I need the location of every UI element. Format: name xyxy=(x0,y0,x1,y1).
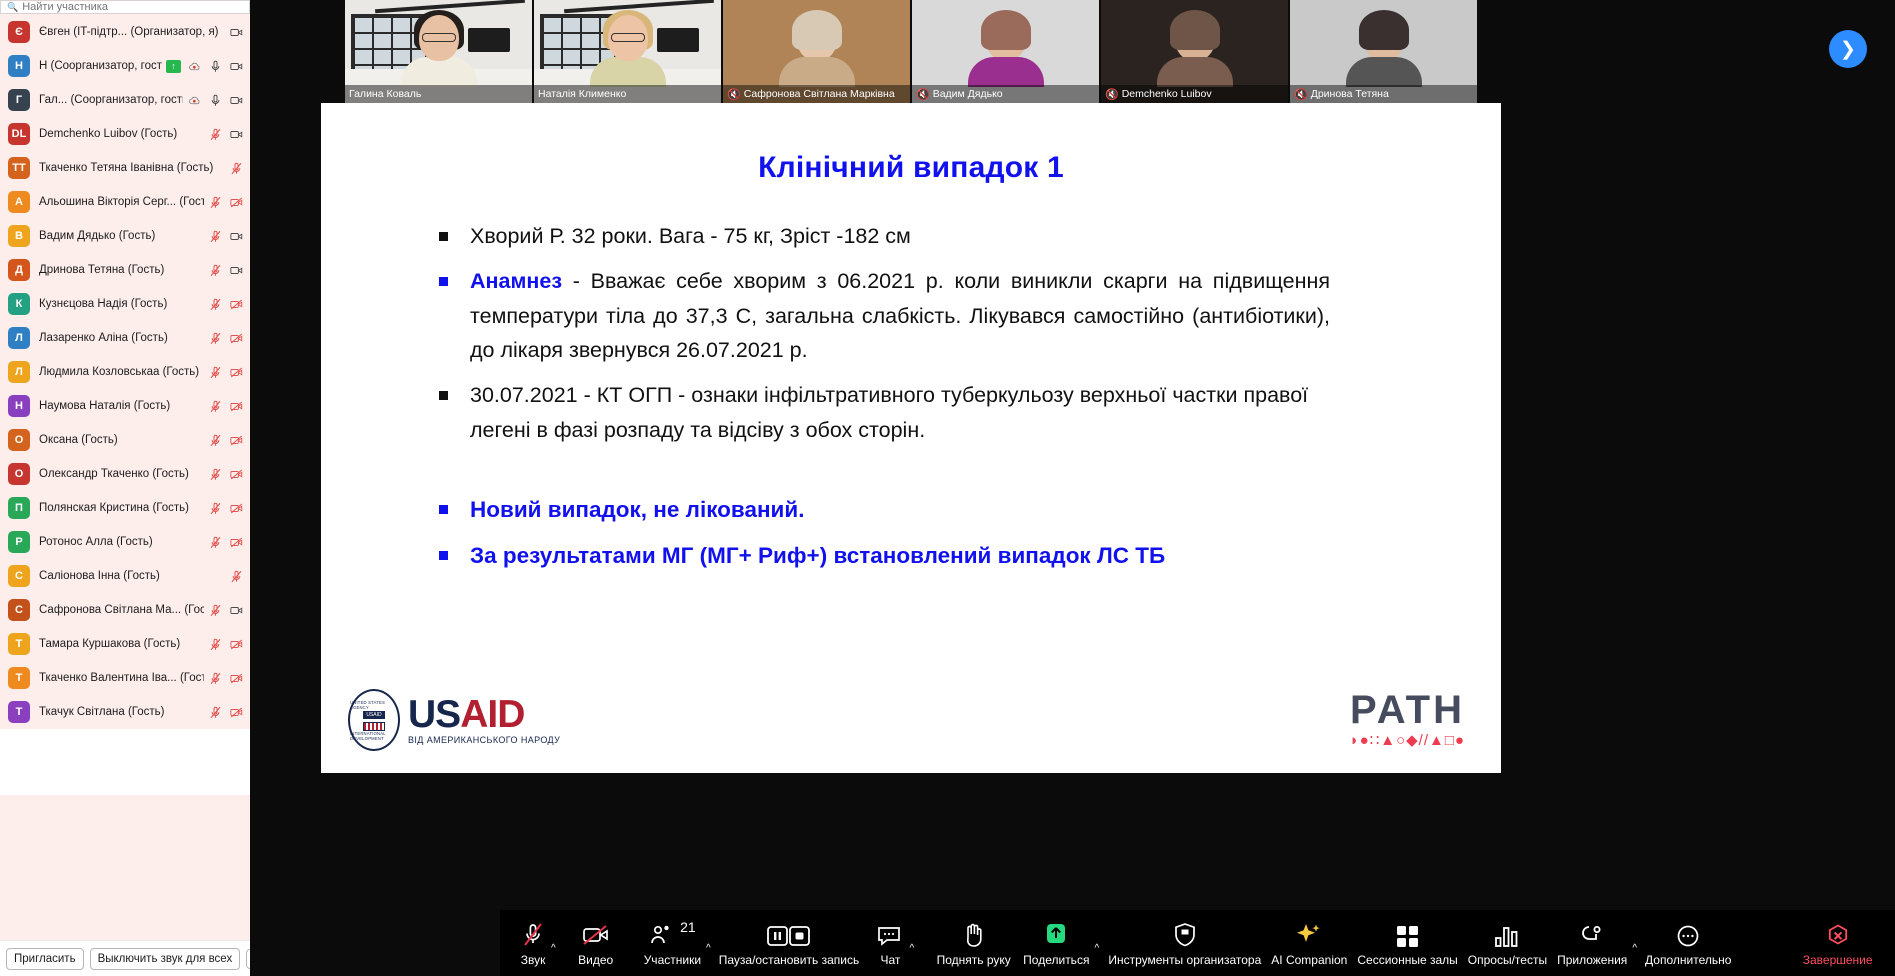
end-meeting-icon xyxy=(1824,919,1852,949)
toolbar-button-label: Звук xyxy=(521,953,546,967)
avatar: Г xyxy=(8,89,30,111)
participants-list-empty-space xyxy=(0,729,250,795)
pause-stop-record-icon xyxy=(766,919,812,949)
slide-bullet: Хворий Р. 32 роки. Вага - 75 кг, Зріст -… xyxy=(439,219,1477,254)
usaid-seal-box: USAID xyxy=(363,711,384,719)
slide-bullet-text: Новий випадок, не лікований. xyxy=(470,492,804,528)
avatar: К xyxy=(8,293,30,315)
microphone-muted-icon: 🔇 xyxy=(1105,88,1119,101)
microphone-muted-icon[interactable] xyxy=(208,535,223,550)
camera-off-icon[interactable] xyxy=(229,263,244,278)
search-icon: 🔍 xyxy=(7,2,18,13)
toolbar-button-pause-stop-record[interactable]: Пауза/остановить запись xyxy=(717,910,861,976)
video-thumbnail[interactable]: 🔇Сафронова Світлана Марківна xyxy=(723,0,910,103)
participant-row[interactable]: ТТкаченко Валентина Іва... (Гость) xyxy=(0,661,250,695)
chat-icon xyxy=(876,919,904,949)
microphone-muted-icon[interactable] xyxy=(208,365,223,380)
chevron-up-icon[interactable]: ^ xyxy=(706,943,711,954)
participant-row[interactable]: НН (Соорганизатор, гость)↑ xyxy=(0,49,250,83)
slide-spacer xyxy=(439,458,1477,492)
thumbnail-label: Галина Коваль xyxy=(345,85,532,103)
toolbar-button-label: Пауза/остановить запись xyxy=(719,953,859,967)
thumbnail-label: 🔇Дринова Тетяна xyxy=(1290,85,1477,103)
raise-hand-icon xyxy=(961,919,987,949)
avatar: Є xyxy=(8,21,30,43)
participant-name: Євген (IT-підтр... (Организатор, я) xyxy=(39,26,225,38)
toolbar-button-label: Видео xyxy=(578,953,613,967)
participant-name: Галина Коваль xyxy=(349,88,421,100)
participant-row[interactable]: ООксана (Гость) xyxy=(0,423,250,457)
usaid-seal-bottom: INTERNATIONAL DEVELOPMENT xyxy=(350,731,398,741)
avatar: Н xyxy=(8,395,30,417)
microphone-muted-icon[interactable] xyxy=(208,671,223,686)
participants-icon: 21 xyxy=(649,919,696,949)
microphone-muted-icon[interactable] xyxy=(208,705,223,720)
path-glyph-row: ◗●∷▲○◆//▲□● xyxy=(1350,731,1465,749)
toolbar-button-label: Поделиться xyxy=(1023,953,1089,967)
microphone-muted-icon[interactable] xyxy=(208,467,223,482)
participant-row[interactable]: ЛЛазаренко Аліна (Гость) xyxy=(0,321,250,355)
video-thumbnail-strip: Галина Коваль Наталія Клименко 🔇Сафронов… xyxy=(345,0,1477,103)
shared-slide: Клінічний випадок 1 Хворий Р. 32 роки. В… xyxy=(321,103,1501,773)
toolbar-button-chat[interactable]: Чат xyxy=(874,910,906,976)
participant-name: Ротонос Алла (Гость) xyxy=(39,536,204,548)
slide-bullet-rest: - Вважає себе хворим з 06.2021 р. коли в… xyxy=(470,269,1330,363)
participant-status-icons xyxy=(208,671,244,686)
participant-status-icons xyxy=(229,25,244,40)
participant-status-icons xyxy=(229,161,244,176)
invite-button[interactable]: Пригласить xyxy=(6,948,84,970)
usaid-tagline: ВІД АМЕРИКАНСЬКОГО НАРОДУ xyxy=(408,735,560,745)
toolbar-button-apps[interactable]: Приложения xyxy=(1555,910,1629,976)
meeting-toolbar: Звук^Видео21Участники^Пауза/остановить з… xyxy=(500,910,1895,976)
screen-share-badge-icon: ↑ xyxy=(166,60,181,73)
camera-off-icon xyxy=(581,919,611,949)
participant-row[interactable]: ДДринова Тетяна (Гость) xyxy=(0,253,250,287)
toolbar-button-host-tools-shield[interactable]: Инструменты организатора xyxy=(1106,910,1263,976)
bullet-marker-icon xyxy=(439,391,448,400)
ai-sparkle-icon xyxy=(1294,919,1324,949)
avatar: С xyxy=(8,599,30,621)
toolbar-button-label: Чат xyxy=(880,953,900,967)
recording-cloud-icon xyxy=(187,59,202,74)
host-tools-shield-icon xyxy=(1172,919,1198,949)
participant-status-icons xyxy=(208,467,244,482)
bullet-marker-icon xyxy=(439,232,448,241)
usaid-logo: UNITED STATES AGENCY USAID INTERNATIONAL… xyxy=(348,689,560,751)
slide-bullet: Новий випадок, не лікований. xyxy=(439,492,1477,528)
video-thumbnail[interactable]: 🔇Вадим Дядько xyxy=(912,0,1099,103)
participant-status-icons xyxy=(208,127,244,142)
microphone-muted-icon: 🔇 xyxy=(727,88,741,101)
video-thumbnail[interactable]: 🔇Demchenko Luibov xyxy=(1101,0,1288,103)
toolbar-button-label: Приложения xyxy=(1557,953,1627,967)
participant-row[interactable]: ССафронова Світлана Ма... (Гость) xyxy=(0,593,250,627)
camera-off-icon[interactable] xyxy=(229,93,244,108)
chevron-up-icon[interactable]: ^ xyxy=(551,943,556,954)
camera-off-icon[interactable] xyxy=(229,705,244,720)
participant-status-icons xyxy=(208,603,244,618)
toolbar-button-microphone-muted[interactable]: Звук xyxy=(518,910,548,976)
participant-row[interactable]: ЛЛюдмила Козловськаа (Гость) xyxy=(0,355,250,389)
path-wordmark: PATH xyxy=(1350,691,1465,729)
participant-name: Наумова Наталія (Гость) xyxy=(39,400,204,412)
participant-row[interactable]: ППолянская Кристина (Гость) xyxy=(0,491,250,525)
camera-off-icon[interactable] xyxy=(229,25,244,40)
microphone-muted-icon xyxy=(520,919,546,949)
toolbar-button-breakout-rooms[interactable]: Сессионные залы xyxy=(1355,910,1459,976)
participant-status-icons xyxy=(208,331,244,346)
toolbar-button-raise-hand[interactable]: Поднять руку xyxy=(935,910,1013,976)
bullet-marker-icon xyxy=(439,551,448,560)
slide-bullet-text: За результатами МГ (МГ+ Риф+) встановлен… xyxy=(470,538,1165,574)
avatar: DL xyxy=(8,123,30,145)
participants-footer: Пригласить Выключить звук для всех ··· xyxy=(0,940,250,976)
participant-row[interactable]: ССаліонова Інна (Гость) xyxy=(0,559,250,593)
toolbar-button-participants[interactable]: 21Участники xyxy=(642,910,703,976)
slide-title: Клінічний випадок 1 xyxy=(321,151,1501,185)
participant-name: Кузнєцова Надія (Гость) xyxy=(39,298,204,310)
usaid-seal-icon: UNITED STATES AGENCY USAID INTERNATIONAL… xyxy=(348,689,400,751)
apps-icon xyxy=(1577,919,1607,949)
avatar: ТТ xyxy=(8,157,30,179)
breakout-rooms-icon xyxy=(1394,919,1422,949)
avatar: Т xyxy=(8,667,30,689)
participant-row[interactable]: РРотонос Алла (Гость) xyxy=(0,525,250,559)
usaid-seal-stripes xyxy=(363,722,385,731)
slide-bullet: 30.07.2021 - КТ ОГП - ознаки інфільтрати… xyxy=(439,378,1477,448)
microphone-muted-icon[interactable] xyxy=(208,331,223,346)
camera-off-icon[interactable] xyxy=(229,433,244,448)
participants-panel: 🔍 ЄЄвген (IT-підтр... (Организатор, я)НН… xyxy=(0,0,250,976)
participant-status-icons xyxy=(208,501,244,516)
toolbar-button-label: Поднять руку xyxy=(937,953,1011,967)
participant-status-icons xyxy=(208,195,244,210)
microphone-muted-icon[interactable] xyxy=(208,263,223,278)
microphone-icon[interactable] xyxy=(208,93,223,108)
participant-name: Наталія Клименко xyxy=(538,88,626,100)
avatar: О xyxy=(8,463,30,485)
camera-off-icon[interactable] xyxy=(229,637,244,652)
video-thumbnail[interactable]: Галина Коваль xyxy=(345,0,532,103)
participant-name: Сафронова Світлана Марківна xyxy=(744,88,895,100)
slide-bullet-text: 30.07.2021 - КТ ОГП - ознаки інфільтрати… xyxy=(470,378,1330,448)
path-logo: PATH ◗●∷▲○◆//▲□● xyxy=(1350,691,1465,749)
participant-status-icons xyxy=(187,93,244,108)
participant-name: Дринова Тетяна xyxy=(1311,88,1389,100)
avatar: Д xyxy=(8,259,30,281)
participant-status-icons xyxy=(208,535,244,550)
slide-bullet-text: Хворий Р. 32 роки. Вага - 75 кг, Зріст -… xyxy=(470,219,911,254)
camera-off-icon[interactable] xyxy=(229,365,244,380)
avatar: Н xyxy=(8,55,30,77)
microphone-muted-icon[interactable] xyxy=(208,501,223,516)
microphone-icon[interactable] xyxy=(208,59,223,74)
participant-row[interactable]: ТТамара Куршакова (Гость) xyxy=(0,627,250,661)
slide-bullet-text: Анамнез - Вважає себе хворим з 06.2021 р… xyxy=(470,264,1330,368)
participant-name: Олександр Ткаченко (Гость) xyxy=(39,468,204,480)
chevron-up-icon[interactable]: ^ xyxy=(1094,943,1099,954)
participant-row[interactable]: ННаумова Наталія (Гость) xyxy=(0,389,250,423)
participant-name: Оксана (Гость) xyxy=(39,434,204,446)
camera-off-icon[interactable] xyxy=(229,467,244,482)
avatar: П xyxy=(8,497,30,519)
participants-count-badge: 21 xyxy=(680,919,696,935)
participant-name: Альошина Вікторія Серг... (Гость) xyxy=(39,196,204,208)
microphone-muted-icon[interactable] xyxy=(208,127,223,142)
participant-status-icons xyxy=(208,263,244,278)
participant-row[interactable]: ООлександр Ткаченко (Гость) xyxy=(0,457,250,491)
toolbar-button-label: Опросы/тесты xyxy=(1468,953,1547,967)
participant-row[interactable]: ТТТкаченко Тетяна Іванівна (Гость) xyxy=(0,151,250,185)
video-thumbnail[interactable]: Наталія Клименко xyxy=(534,0,721,103)
camera-off-icon[interactable] xyxy=(229,127,244,142)
participant-name: Дринова Тетяна (Гость) xyxy=(39,264,204,276)
participant-row[interactable]: DLDemchenko Luibov (Гость) xyxy=(0,117,250,151)
slide-bullet: Анамнез - Вважає себе хворим з 06.2021 р… xyxy=(439,264,1477,368)
share-screen-icon xyxy=(1041,919,1071,949)
participant-name: Лазаренко Аліна (Гость) xyxy=(39,332,204,344)
avatar: С xyxy=(8,565,30,587)
camera-off-icon[interactable] xyxy=(229,331,244,346)
mute-all-button[interactable]: Выключить звук для всех xyxy=(90,948,241,970)
participant-name: Demchenko Luibov (Гость) xyxy=(39,128,204,140)
camera-off-icon[interactable] xyxy=(229,603,244,618)
toolbar-button-label: Завершение xyxy=(1803,953,1873,967)
camera-off-icon[interactable] xyxy=(229,195,244,210)
participant-status-icons xyxy=(208,297,244,312)
camera-off-icon[interactable] xyxy=(229,535,244,550)
microphone-muted-icon[interactable] xyxy=(208,195,223,210)
microphone-muted-icon[interactable] xyxy=(229,161,244,176)
participant-status-icons xyxy=(208,399,244,414)
recording-cloud-icon xyxy=(187,93,202,108)
participant-status-icons xyxy=(208,365,244,380)
microphone-muted-icon: 🔇 xyxy=(1294,88,1308,101)
avatar: Т xyxy=(8,701,30,723)
polls-icon xyxy=(1493,919,1521,949)
video-thumbnail[interactable]: 🔇Дринова Тетяна xyxy=(1290,0,1477,103)
participant-name: Тамара Куршакова (Гость) xyxy=(39,638,204,650)
participant-status-icons xyxy=(208,433,244,448)
participants-list[interactable]: ЄЄвген (IT-підтр... (Организатор, я)НН (… xyxy=(0,14,250,940)
thumbnail-label: Наталія Клименко xyxy=(534,85,721,103)
chevron-up-icon[interactable]: ^ xyxy=(909,943,914,954)
avatar: Т xyxy=(8,633,30,655)
participant-search-row[interactable]: 🔍 xyxy=(0,0,250,14)
participant-name: Ткаченко Валентина Іва... (Гость) xyxy=(39,672,204,684)
participant-status-icons xyxy=(208,637,244,652)
toolbar-button-label: Дополнительно xyxy=(1645,953,1731,967)
usaid-seal-top: UNITED STATES AGENCY xyxy=(350,700,398,710)
participant-status-icons: ↑ xyxy=(166,59,244,74)
toolbar-button-label: Сессионные залы xyxy=(1357,953,1457,967)
slide-body: Хворий Р. 32 роки. Вага - 75 кг, Зріст -… xyxy=(439,219,1477,575)
avatar: В xyxy=(8,225,30,247)
participant-row[interactable]: ВВадим Дядько (Гость) xyxy=(0,219,250,253)
microphone-muted-icon[interactable] xyxy=(208,637,223,652)
thumbnail-label: 🔇Вадим Дядько xyxy=(912,85,1099,103)
camera-off-icon[interactable] xyxy=(229,297,244,312)
toolbar-button-more[interactable]: Дополнительно xyxy=(1643,910,1733,976)
camera-off-icon[interactable] xyxy=(229,399,244,414)
microphone-muted-icon[interactable] xyxy=(208,433,223,448)
microphone-muted-icon[interactable] xyxy=(208,603,223,618)
avatar: О xyxy=(8,429,30,451)
usaid-us: US xyxy=(408,693,460,736)
avatar: Р xyxy=(8,531,30,553)
toolbar-button-polls[interactable]: Опросы/тесты xyxy=(1466,910,1549,976)
slide-bullet: За результатами МГ (МГ+ Риф+) встановлен… xyxy=(439,538,1477,574)
avatar: А xyxy=(8,191,30,213)
toolbar-button-label: AI Companion xyxy=(1271,953,1347,967)
chevron-right-icon[interactable]: ❯ xyxy=(1829,30,1867,68)
camera-off-icon[interactable] xyxy=(229,229,244,244)
more-icon xyxy=(1674,919,1702,949)
avatar: Л xyxy=(8,361,30,383)
chevron-up-icon[interactable]: ^ xyxy=(1632,943,1637,954)
participant-name: Людмила Козловськаа (Гость) xyxy=(39,366,204,378)
participant-name: Demchenko Luibov xyxy=(1122,88,1212,100)
participant-row[interactable]: ККузнєцова Надія (Гость) xyxy=(0,287,250,321)
toolbar-button-end-meeting[interactable]: Завершение xyxy=(1801,910,1875,976)
participant-name: Саліонова Інна (Гость) xyxy=(39,570,225,582)
participant-row[interactable]: ТТкачук Світлана (Гость) xyxy=(0,695,250,729)
toolbar-button-camera-off[interactable]: Видео xyxy=(576,910,615,976)
participant-name: Сафронова Світлана Ма... (Гость) xyxy=(39,604,204,616)
bullet-marker-icon xyxy=(439,505,448,514)
zoom-meeting-window: 🔍 ЄЄвген (IT-підтр... (Организатор, я)НН… xyxy=(0,0,1895,976)
camera-off-icon[interactable] xyxy=(229,671,244,686)
toolbar-button-ai-sparkle[interactable]: AI Companion xyxy=(1269,910,1349,976)
slide-bullet-lead: Анамнез xyxy=(470,269,562,293)
meeting-stage: Галина Коваль Наталія Клименко 🔇Сафронов… xyxy=(250,0,1895,976)
participant-status-icons xyxy=(229,569,244,584)
participant-status-icons xyxy=(208,229,244,244)
toolbar-button-label: Инструменты организатора xyxy=(1108,953,1261,967)
participant-row[interactable]: ААльошина Вікторія Серг... (Гость) xyxy=(0,185,250,219)
toolbar-button-label: Участники xyxy=(644,953,701,967)
participant-name: Полянская Кристина (Гость) xyxy=(39,502,204,514)
participant-row[interactable]: ЄЄвген (IT-підтр... (Организатор, я) xyxy=(0,15,250,49)
avatar: Л xyxy=(8,327,30,349)
participant-name: Гал... (Соорганизатор, гость) xyxy=(39,94,183,106)
microphone-muted-icon: 🔇 xyxy=(916,88,930,101)
participant-name: Ткачук Світлана (Гость) xyxy=(39,706,204,718)
microphone-muted-icon[interactable] xyxy=(208,399,223,414)
participant-name: Вадим Дядько xyxy=(933,88,1003,100)
microphone-muted-icon[interactable] xyxy=(229,569,244,584)
thumbnail-label: 🔇Demchenko Luibov xyxy=(1101,85,1288,103)
camera-off-icon[interactable] xyxy=(229,59,244,74)
thumbnail-label: 🔇Сафронова Світлана Марківна xyxy=(723,85,910,103)
participant-name: Вадим Дядько (Гость) xyxy=(39,230,204,242)
usaid-aid: AID xyxy=(460,693,524,736)
usaid-wordmark: USAID xyxy=(408,695,560,734)
participant-name: Ткаченко Тетяна Іванівна (Гость) xyxy=(39,162,225,174)
camera-off-icon[interactable] xyxy=(229,501,244,516)
bullet-marker-icon xyxy=(439,277,448,286)
participant-row[interactable]: ГГал... (Соорганизатор, гость) xyxy=(0,83,250,117)
microphone-muted-icon[interactable] xyxy=(208,297,223,312)
participant-name: Н (Соорганизатор, гость) xyxy=(39,60,162,72)
search-input[interactable] xyxy=(22,1,243,13)
participant-status-icons xyxy=(208,705,244,720)
toolbar-button-share-screen[interactable]: Поделиться xyxy=(1021,910,1091,976)
microphone-muted-icon[interactable] xyxy=(208,229,223,244)
